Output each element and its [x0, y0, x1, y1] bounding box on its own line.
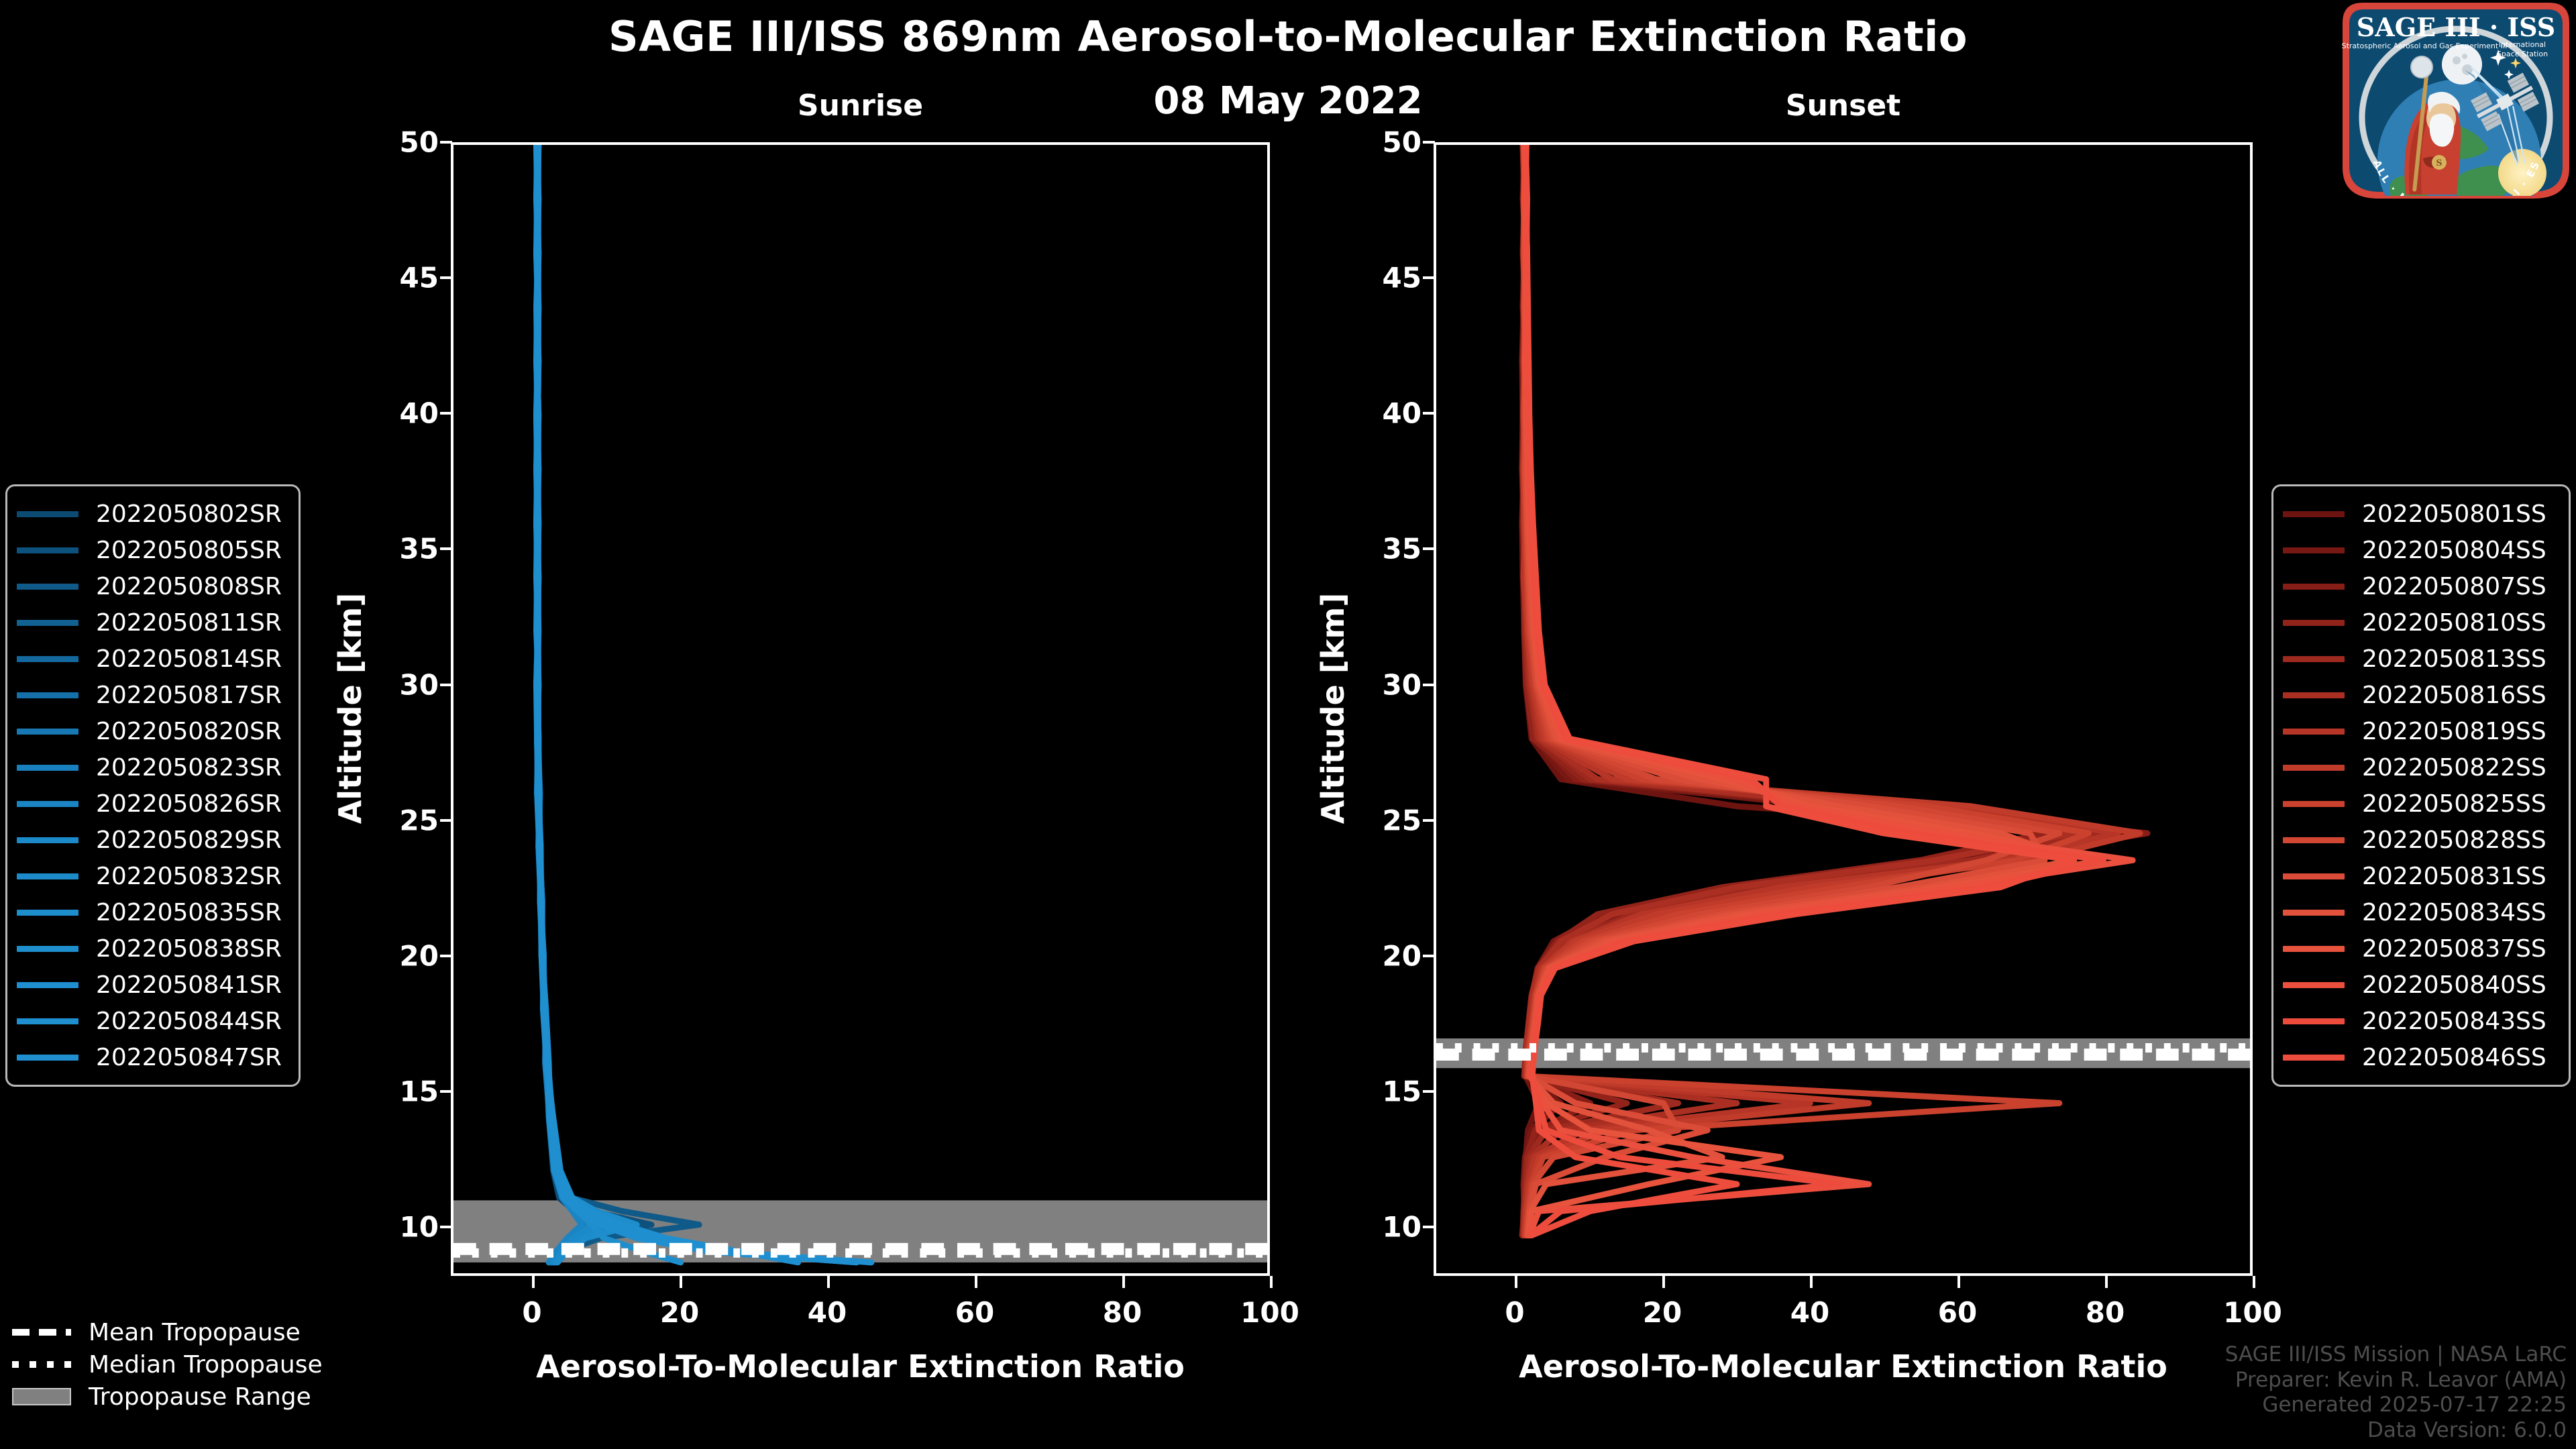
y-tick-mark — [440, 141, 452, 144]
legend-color-swatch — [17, 801, 78, 807]
profile-line — [1523, 145, 2074, 1236]
legend-color-swatch — [17, 765, 78, 771]
x-tick-label: 40 — [777, 1296, 877, 1329]
legend-item[interactable]: 2022050822SS — [2283, 749, 2558, 786]
profile-line — [536, 145, 699, 1263]
x-tick-label: 60 — [1907, 1296, 2008, 1329]
legend-item[interactable]: 2022050817SR — [17, 677, 288, 713]
legend-item-label: 2022050835SR — [96, 899, 282, 926]
legend-color-swatch — [2283, 729, 2345, 735]
sunrise-series-legend[interactable]: 2022050802SR2022050805SR2022050808SR2022… — [5, 484, 301, 1087]
patch-title-text: SAGE III · ISS — [2357, 12, 2555, 42]
legend-color-swatch — [2283, 1055, 2345, 1061]
legend-item[interactable]: 2022050831SS — [2283, 858, 2558, 894]
legend-color-swatch — [2283, 873, 2345, 879]
x-tick-label: 60 — [924, 1296, 1025, 1329]
y-tick-mark — [440, 955, 452, 957]
legend-item-label: 2022050828SS — [2362, 826, 2546, 854]
sunrise-plot-area — [453, 145, 1267, 1273]
mean-tropopause-label: Mean Tropopause — [89, 1319, 301, 1346]
y-tick-label: 45 — [338, 262, 439, 294]
x-tick-label: 20 — [1612, 1296, 1713, 1329]
patch-subtitle-right-line2: Space Station — [2497, 50, 2548, 58]
x-tick-label: 100 — [2202, 1296, 2303, 1329]
legend-color-swatch — [17, 692, 78, 698]
legend-item[interactable]: 2022050807SS — [2283, 568, 2558, 604]
moon-disc — [2442, 44, 2482, 85]
tropopause-legend: Mean Tropopause Median Tropopause Tropop… — [9, 1316, 358, 1413]
y-tick-mark — [440, 412, 452, 415]
x-tick-mark — [2253, 1276, 2255, 1288]
legend-item-label: 2022050822SS — [2362, 754, 2546, 782]
legend-item[interactable]: 2022050805SR — [17, 532, 288, 568]
profile-line — [536, 145, 798, 1263]
legend-item[interactable]: 2022050820SR — [17, 713, 288, 749]
legend-item[interactable]: 2022050810SS — [2283, 604, 2558, 641]
y-tick-label: 10 — [1321, 1211, 1421, 1244]
legend-item[interactable]: 2022050808SR — [17, 568, 288, 604]
sunrise-plot-panel — [451, 142, 1270, 1276]
x-tick-label: 80 — [1072, 1296, 1173, 1329]
legend-item[interactable]: 2022050811SR — [17, 604, 288, 641]
profile-line — [1525, 145, 2103, 1236]
legend-color-swatch — [17, 1018, 78, 1024]
legend-item[interactable]: 2022050823SR — [17, 749, 288, 786]
x-tick-mark — [827, 1276, 830, 1288]
legend-item-label: 2022050810SS — [2362, 609, 2546, 637]
legend-item[interactable]: 2022050846SS — [2283, 1039, 2558, 1075]
median-tropopause-label: Median Tropopause — [89, 1351, 323, 1379]
y-axis-title: Altitude [km] — [1315, 521, 1351, 896]
sunrise-panel-title: Sunrise — [451, 89, 1270, 123]
x-tick-label: 40 — [1760, 1296, 1860, 1329]
legend-item-label: 2022050837SS — [2362, 935, 2546, 963]
legend-color-swatch — [17, 910, 78, 916]
y-tick-mark — [1423, 276, 1435, 279]
legend-item-label: 2022050844SR — [96, 1008, 282, 1035]
legend-item[interactable]: 2022050801SS — [2283, 496, 2558, 532]
x-tick-label: 20 — [629, 1296, 730, 1329]
legend-item[interactable]: 2022050835SR — [17, 894, 288, 930]
legend-color-swatch — [2283, 946, 2345, 952]
profile-line — [536, 145, 857, 1263]
legend-item[interactable]: 2022050838SR — [17, 930, 288, 967]
profile-line — [1523, 145, 2147, 1236]
profile-line — [1524, 145, 2045, 1236]
legend-item-label: 2022050802SR — [96, 500, 282, 528]
legend-item-label: 2022050804SS — [2362, 537, 2546, 564]
profile-line — [1523, 145, 2118, 1236]
legend-color-swatch — [17, 946, 78, 952]
y-tick-mark — [440, 684, 452, 686]
patch-subtitle-left-text: Stratospheric Aerosol and Gas Experiment… — [2342, 42, 2508, 50]
y-tick-label: 45 — [1321, 262, 1421, 294]
legend-item-label: 2022050814SR — [96, 645, 282, 673]
legend-item[interactable]: 2022050828SS — [2283, 822, 2558, 858]
legend-item[interactable]: 2022050825SS — [2283, 786, 2558, 822]
y-tick-mark — [1423, 547, 1435, 550]
legend-item-label: 2022050805SR — [96, 537, 282, 564]
legend-item[interactable]: 2022050819SS — [2283, 713, 2558, 749]
legend-item-label: 2022050825SS — [2362, 790, 2546, 818]
legend-item[interactable]: 2022050802SR — [17, 496, 288, 532]
legend-item[interactable]: 2022050813SS — [2283, 641, 2558, 677]
legend-item[interactable]: 2022050840SS — [2283, 967, 2558, 1003]
profile-line — [1523, 145, 2140, 1236]
legend-item-label: 2022050816SS — [2362, 682, 2546, 709]
legend-color-swatch — [17, 584, 78, 590]
legend-item-label: 2022050826SR — [96, 790, 282, 818]
legend-item-label: 2022050831SS — [2362, 863, 2546, 890]
page-title: SAGE III/ISS 869nm Aerosol-to-Molecular … — [0, 12, 2576, 61]
footer-line-mission: SAGE III/ISS Mission | NASA LaRC — [2225, 1342, 2567, 1368]
legend-item[interactable]: 2022050834SS — [2283, 894, 2558, 930]
profile-line — [1524, 145, 2074, 1236]
x-tick-mark — [1957, 1276, 1960, 1288]
x-tick-mark — [1810, 1276, 1813, 1288]
legend-color-swatch — [2283, 656, 2345, 662]
x-axis-title: Aerosol-To-Molecular Extinction Ratio — [1434, 1348, 2253, 1385]
y-tick-mark — [1423, 1090, 1435, 1093]
sage-iii-iss-mission-patch-logo: S BALL · NASA LARC · TAS-I · ESA SAGE II… — [2340, 0, 2572, 201]
legend-color-swatch — [2283, 910, 2345, 916]
legend-row-tropopause-range: Tropopause Range — [9, 1381, 358, 1413]
legend-color-swatch — [2283, 1018, 2345, 1024]
legend-color-swatch — [17, 837, 78, 843]
tropopause-range-label: Tropopause Range — [89, 1383, 311, 1411]
profile-line — [1523, 145, 2045, 1236]
filled-band-icon — [9, 1389, 74, 1405]
legend-item[interactable]: 2022050837SS — [2283, 930, 2558, 967]
footer-line-generated: Generated 2025-07-17 22:25 — [2225, 1393, 2567, 1418]
x-tick-label: 100 — [1220, 1296, 1320, 1329]
legend-item-label: 2022050811SR — [96, 609, 282, 637]
x-tick-label: 0 — [1464, 1296, 1565, 1329]
legend-item-label: 2022050808SR — [96, 573, 282, 600]
legend-color-swatch — [17, 511, 78, 517]
y-tick-label: 50 — [338, 126, 439, 159]
y-tick-label: 15 — [338, 1075, 439, 1108]
x-tick-mark — [2105, 1276, 2108, 1288]
y-axis-title: Altitude [km] — [332, 521, 368, 896]
sunset-plot-panel — [1434, 142, 2253, 1276]
y-tick-mark — [1423, 412, 1435, 415]
y-tick-label: 40 — [1321, 397, 1421, 430]
profile-line — [1524, 145, 2059, 1236]
y-tick-label: 15 — [1321, 1075, 1421, 1108]
legend-item-label: 2022050846SS — [2362, 1044, 2546, 1071]
legend-color-swatch — [2283, 547, 2345, 553]
legend-color-swatch — [2283, 511, 2345, 517]
x-tick-mark — [1662, 1276, 1665, 1288]
profile-line — [1525, 145, 2103, 1236]
y-tick-mark — [1423, 819, 1435, 822]
y-tick-mark — [440, 547, 452, 550]
y-tick-mark — [1423, 955, 1435, 957]
svg-text:S: S — [2436, 158, 2442, 168]
x-tick-mark — [1122, 1276, 1125, 1288]
profile-line — [536, 145, 680, 1263]
y-tick-mark — [440, 819, 452, 822]
legend-color-swatch — [17, 547, 78, 553]
y-tick-mark — [440, 276, 452, 279]
profile-line — [1523, 145, 2103, 1236]
figure-root: SAGE III/ISS 869nm Aerosol-to-Molecular … — [0, 0, 2576, 1449]
legend-item-label: 2022050819SS — [2362, 718, 2546, 745]
legend-row-median-tropopause: Median Tropopause — [9, 1348, 358, 1381]
legend-item-label: 2022050843SS — [2362, 1008, 2546, 1035]
profile-line — [536, 145, 871, 1263]
legend-color-swatch — [17, 656, 78, 662]
legend-item[interactable]: 2022050816SS — [2283, 677, 2558, 713]
legend-color-swatch — [2283, 982, 2345, 988]
dashed-line-icon — [9, 1324, 74, 1340]
legend-color-swatch — [17, 620, 78, 626]
sunset-series-legend[interactable]: 2022050801SS2022050804SS2022050807SS2022… — [2271, 484, 2571, 1087]
legend-item[interactable]: 2022050847SR — [17, 1039, 288, 1075]
y-tick-mark — [1423, 141, 1435, 144]
legend-item[interactable]: 2022050843SS — [2283, 1003, 2558, 1039]
x-tick-mark — [1270, 1276, 1273, 1288]
profile-line — [1525, 145, 2074, 1236]
legend-item[interactable]: 2022050826SR — [17, 786, 288, 822]
legend-color-swatch — [17, 982, 78, 988]
legend-item[interactable]: 2022050841SR — [17, 967, 288, 1003]
legend-item[interactable]: 2022050804SS — [2283, 532, 2558, 568]
legend-item-label: 2022050829SR — [96, 826, 282, 854]
legend-color-swatch — [2283, 765, 2345, 771]
profile-line — [536, 145, 582, 1263]
footer-credits: SAGE III/ISS Mission | NASA LaRC Prepare… — [2225, 1342, 2567, 1444]
x-tick-mark — [680, 1276, 682, 1288]
profile-line — [1522, 145, 2133, 1236]
legend-item-label: 2022050834SS — [2362, 899, 2546, 926]
y-tick-label: 40 — [338, 397, 439, 430]
y-tick-mark — [440, 1226, 452, 1228]
y-tick-label: 50 — [1321, 126, 1421, 159]
legend-item[interactable]: 2022050814SR — [17, 641, 288, 677]
dotted-line-icon — [9, 1356, 74, 1373]
y-tick-mark — [440, 1090, 452, 1093]
legend-color-swatch — [17, 729, 78, 735]
y-tick-mark — [1423, 1226, 1435, 1228]
footer-line-preparer: Preparer: Kevin R. Leavor (AMA) — [2225, 1368, 2567, 1393]
legend-item[interactable]: 2022050829SR — [17, 822, 288, 858]
legend-row-mean-tropopause: Mean Tropopause — [9, 1316, 358, 1348]
legend-item[interactable]: 2022050844SR — [17, 1003, 288, 1039]
x-tick-mark — [1515, 1276, 1517, 1288]
sunset-plot-area — [1436, 145, 2250, 1273]
legend-color-swatch — [2283, 837, 2345, 843]
legend-item-label: 2022050813SS — [2362, 645, 2546, 673]
legend-item[interactable]: 2022050832SR — [17, 858, 288, 894]
legend-item-label: 2022050838SR — [96, 935, 282, 963]
legend-color-swatch — [2283, 620, 2345, 626]
legend-color-swatch — [2283, 584, 2345, 590]
legend-color-swatch — [2283, 801, 2345, 807]
legend-item-label: 2022050847SR — [96, 1044, 282, 1071]
x-tick-mark — [975, 1276, 977, 1288]
legend-color-swatch — [17, 873, 78, 879]
x-axis-title: Aerosol-To-Molecular Extinction Ratio — [451, 1348, 1270, 1385]
sunset-panel-title: Sunset — [1434, 89, 2253, 123]
legend-item-label: 2022050801SS — [2362, 500, 2546, 528]
legend-item-label: 2022050841SR — [96, 971, 282, 999]
x-tick-label: 80 — [2055, 1296, 2155, 1329]
profile-line — [536, 145, 589, 1263]
profile-line — [1524, 145, 2133, 1236]
footer-line-dataversion: Data Version: 6.0.0 — [2225, 1418, 2567, 1444]
legend-item-label: 2022050817SR — [96, 682, 282, 709]
y-tick-label: 20 — [1321, 939, 1421, 972]
x-tick-label: 0 — [482, 1296, 582, 1329]
profile-line — [1522, 145, 2089, 1236]
legend-item-label: 2022050820SR — [96, 718, 282, 745]
legend-color-swatch — [2283, 692, 2345, 698]
y-tick-label: 20 — [338, 939, 439, 972]
legend-item-label: 2022050832SR — [96, 863, 282, 890]
y-tick-label: 10 — [338, 1211, 439, 1244]
legend-color-swatch — [17, 1055, 78, 1061]
legend-item-label: 2022050807SS — [2362, 573, 2546, 600]
y-tick-mark — [1423, 684, 1435, 686]
profile-line — [1523, 145, 2089, 1236]
patch-subtitle-right-line1: International — [2499, 40, 2546, 49]
legend-item-label: 2022050840SS — [2362, 971, 2546, 999]
legend-item-label: 2022050823SR — [96, 754, 282, 782]
x-tick-mark — [532, 1276, 535, 1288]
